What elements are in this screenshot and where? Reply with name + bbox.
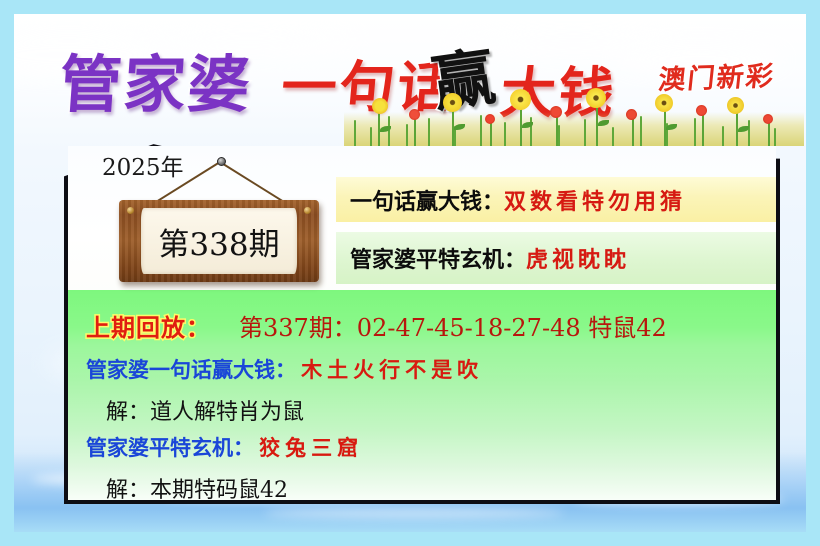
flower-yellow [510, 89, 531, 110]
detail-row-riddle: 管家婆平特玄机： 狡兔三窟 [68, 432, 776, 462]
flower-red [626, 109, 637, 120]
flower-meadow-decoration [344, 86, 804, 146]
detail-label: 管家婆平特玄机： [86, 436, 254, 460]
previous-draw-row: 上期回放： 第337期：02-47-45-18-27-48 特鼠42 [68, 304, 776, 346]
detail-row-answer-riddle: 解：本期特码鼠42 [68, 472, 776, 500]
flower-yellow [372, 98, 388, 114]
detail-row-slogan: 管家婆一句话赢大钱： 木土火行不是吹 [68, 354, 776, 384]
screw-icon [127, 207, 134, 214]
previous-draw-label: 上期回放： [86, 308, 211, 343]
wooden-signboard: 第338期 [119, 200, 319, 282]
sky-background: 管家婆 一句话 赢 大钱 澳门新彩 [14, 14, 806, 532]
detail-value: 狡兔三窟 [259, 436, 363, 460]
rope-left [153, 161, 220, 204]
brand-title: 管家婆 [57, 34, 255, 124]
detail-row-answer-slogan: 解：道人解特肖为鼠 [68, 394, 776, 426]
banner-pingte-riddle: 管家婆平特玄机： 虎视眈眈 [336, 232, 776, 284]
flower-yellow [586, 88, 606, 108]
poster-root: 管家婆 一句话 赢 大钱 澳门新彩 [0, 0, 820, 546]
issue-number-text: 第338期 [158, 219, 279, 264]
banner-label: 一句话赢大钱： [350, 184, 504, 216]
previous-draw-numbers: 第337期：02-47-45-18-27-48 特鼠42 [239, 308, 667, 343]
hanging-issue-sign: 第338期 [114, 154, 324, 294]
flower-yellow [443, 93, 462, 112]
banner-value: 双数看特勿用猜 [504, 184, 686, 216]
rope-right [219, 161, 286, 204]
flower-red [550, 106, 562, 118]
banner-tip-of-the-day: 一句话赢大钱： 双数看特勿用猜 [336, 177, 776, 222]
nail-icon [217, 157, 226, 166]
detail-answer: 解：本期特码鼠42 [106, 478, 288, 500]
flower-red [696, 105, 707, 116]
sign-plate: 第338期 [141, 208, 297, 274]
cloud-wisp [264, 508, 564, 518]
detail-answer: 解：道人解特肖为鼠 [106, 400, 304, 425]
detail-value: 木土火行不是吹 [301, 358, 483, 382]
header-title-block: 管家婆 一句话 赢 大钱 澳门新彩 [14, 14, 806, 139]
flower-red [409, 109, 420, 120]
screw-icon [304, 207, 311, 214]
flower-yellow [727, 97, 744, 114]
banner-label: 管家婆平特玄机： [350, 242, 526, 274]
flower-yellow [655, 94, 673, 112]
banner-value: 虎视眈眈 [526, 242, 630, 274]
flower-red [763, 114, 773, 124]
flower-red [485, 114, 495, 124]
detail-label: 管家婆一句话赢大钱： [86, 358, 296, 382]
